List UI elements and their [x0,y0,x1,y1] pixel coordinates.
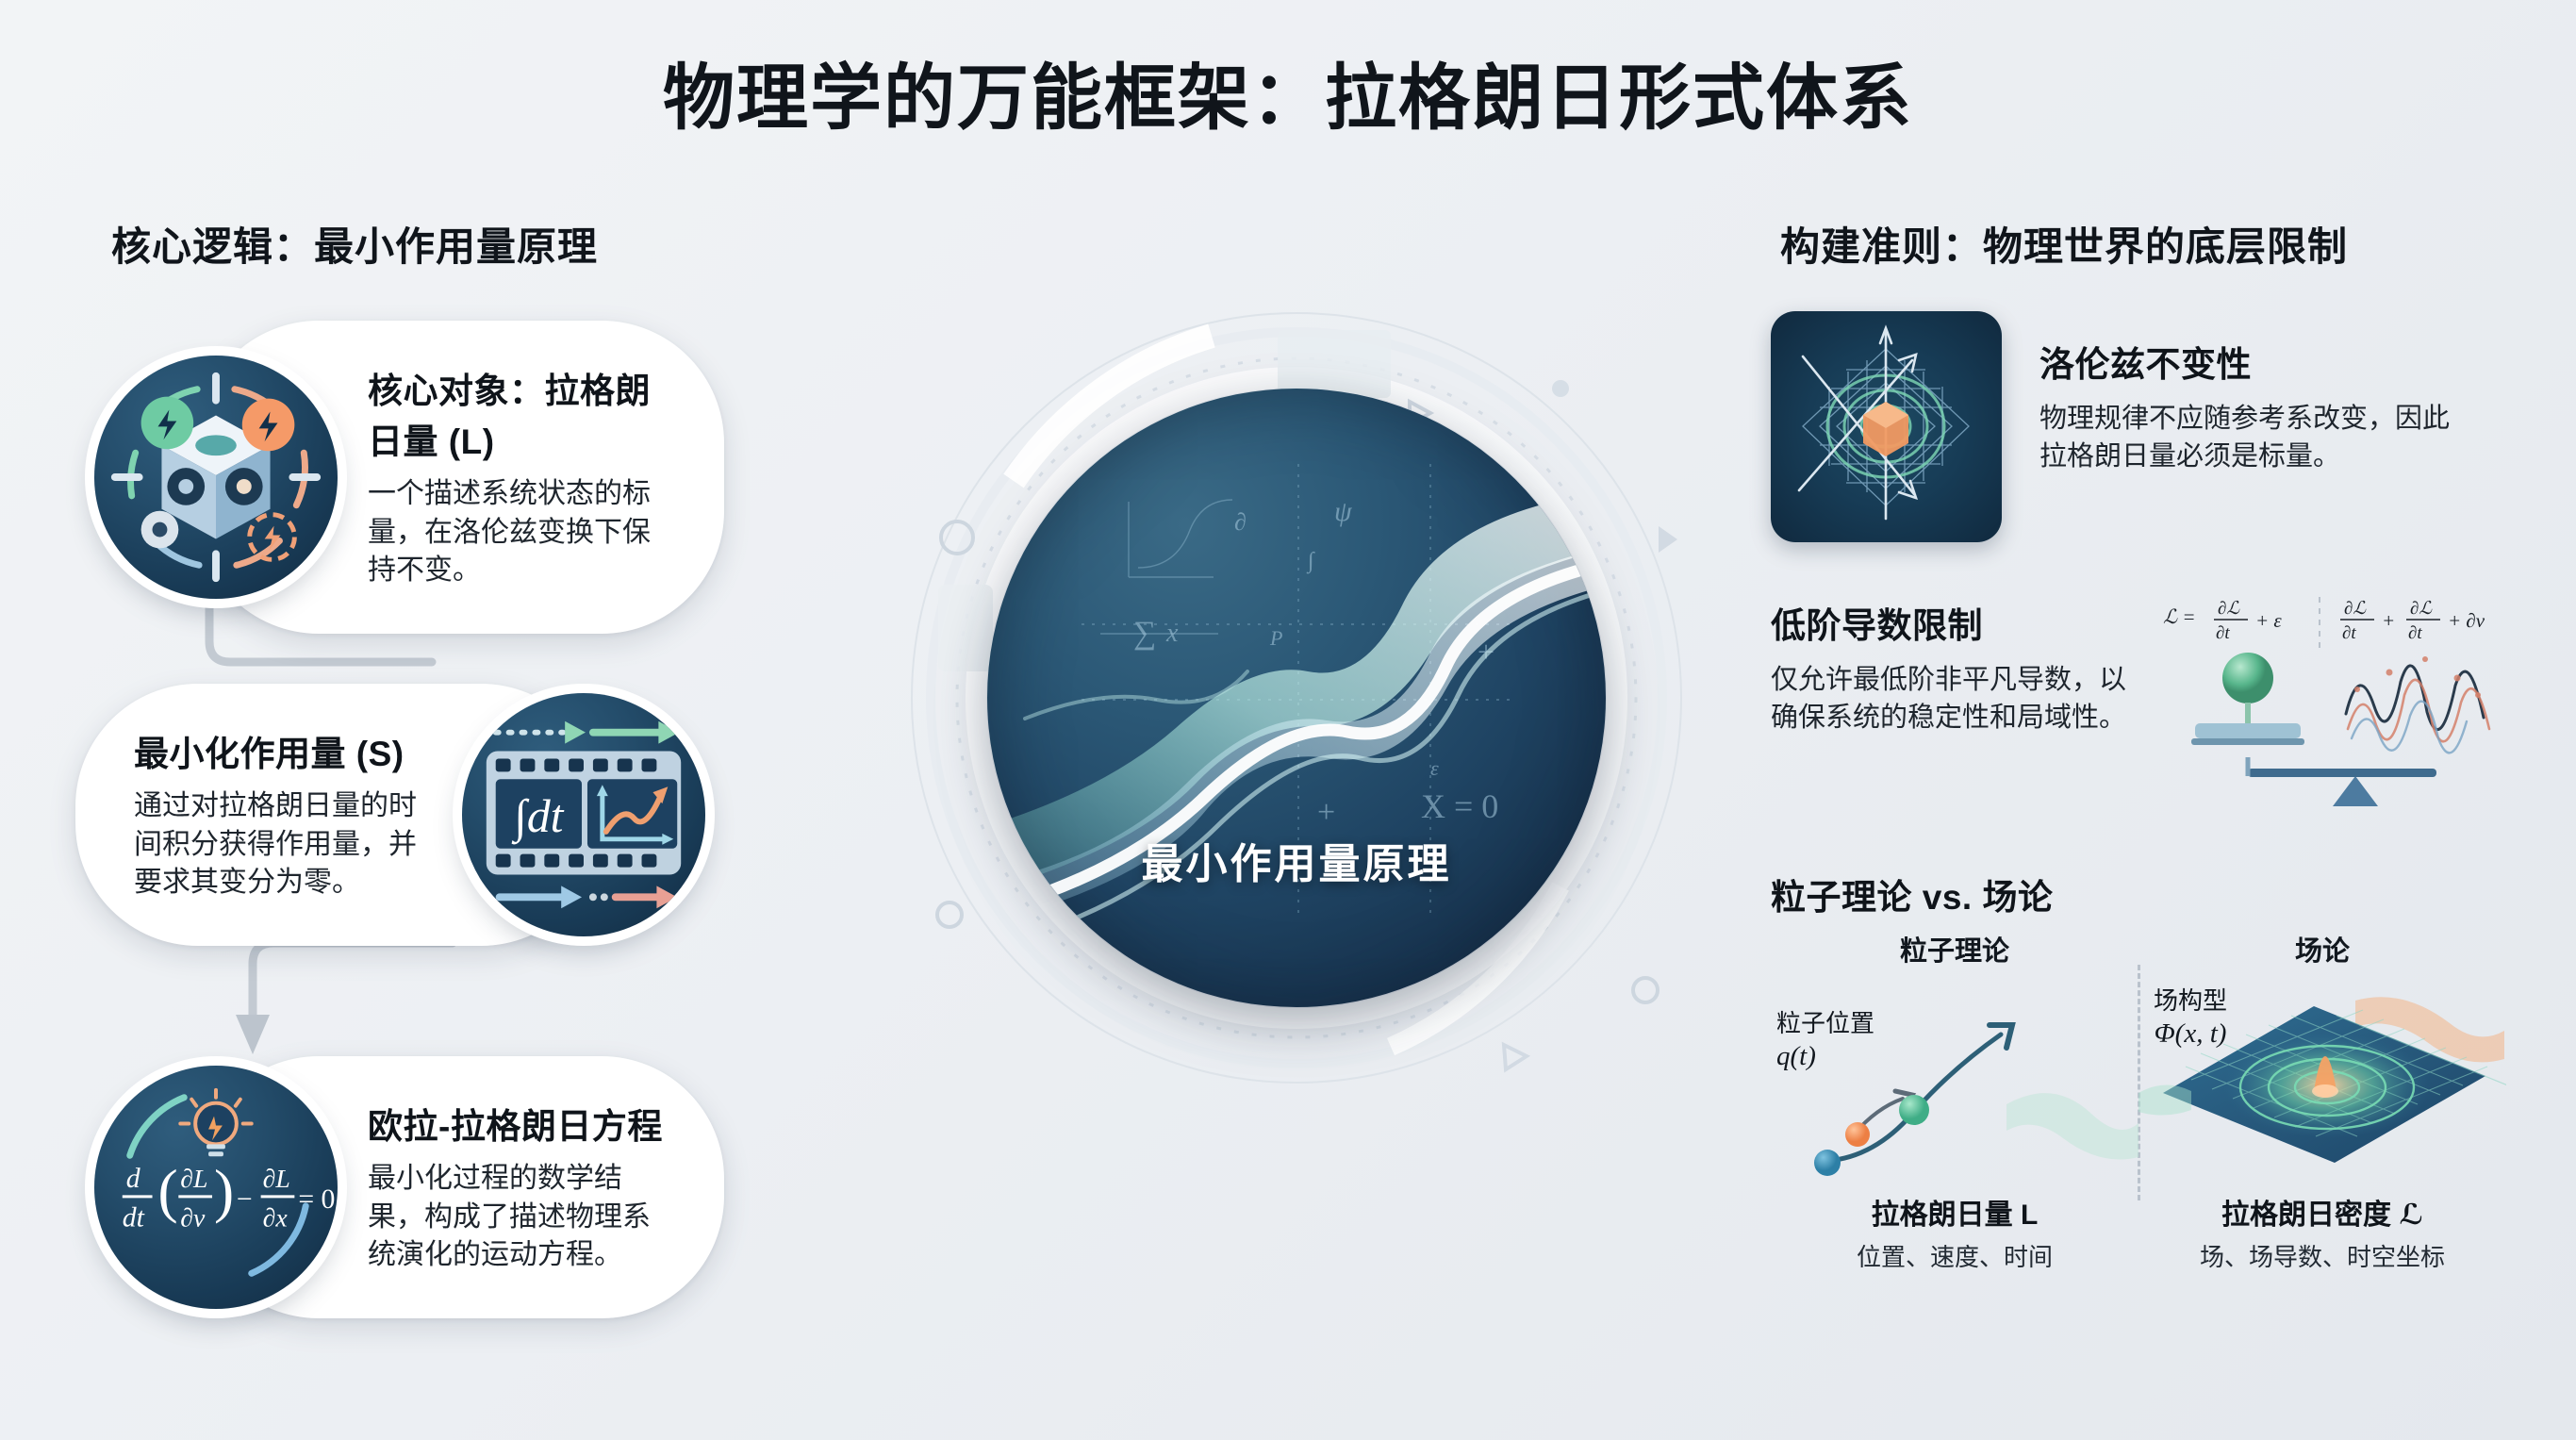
right-block-compare[interactable]: 粒子理论 vs. 场论 粒子理论 粒子位置 q(t) [1771,869,2525,1273]
derivative-text: 低阶导数限制 仅允许最低阶非平凡导数，以确保系统的稳定性和局域性。 [1771,591,2148,827]
flow-card-3-desc: 最小化过程的数学结果，构成了描述物理系统演化的运动方程。 [368,1160,666,1275]
flow-step-1[interactable]: 核心对象：拉格朗日量 (L) 一个描述系统状态的标量，在洛伦兹变换下保持不变。 [94,321,724,634]
flow-card-2-desc: 通过对拉格朗日量的时间积分获得作用量，并要求其变分为零。 [134,787,432,902]
compare-particle-title: 粒子理论 [1771,929,2138,968]
svg-text:d: d [126,1163,140,1194]
svg-text:+ ε: + ε [2255,609,2282,632]
svg-text:∂x: ∂x [263,1203,289,1233]
svg-text:∂ℒ: ∂ℒ [2344,599,2367,619]
left-flow-column: 核心对象：拉格朗日量 (L) 一个描述系统状态的标量，在洛伦兹变换下保持不变。 [75,311,952,1377]
lorentz-desc: 物理规律不应随参考系改变，因此拉格朗日量必须是标量。 [2039,400,2473,475]
svg-text:+: + [1317,795,1335,830]
balance-scale-icon: ℒ = ∂ℒ ∂t + ε ∂ℒ ∂t + ∂ℒ ∂t + ∂v [2157,591,2525,827]
svg-text:∂t: ∂t [2216,623,2230,643]
svg-text:∂t: ∂t [2342,623,2356,643]
svg-text:∂L: ∂L [180,1165,207,1194]
right-block-derivative[interactable]: 低阶导数限制 仅允许最低阶非平凡导数，以确保系统的稳定性和局域性。 ℒ = ∂ℒ… [1771,591,2525,827]
lorentz-title: 洛伦兹不变性 [2039,336,2473,387]
left-section-header: 核心逻辑：最小作用量原理 [111,215,598,273]
svg-text:∫: ∫ [1306,549,1315,574]
derivative-title: 低阶导数限制 [1771,597,2148,648]
center-hero: ∑ x ∂ ψ ∫ P + X = 0 + ε 最小作用量原理 [900,302,1693,1094]
flow-card-1-title: 核心对象：拉格朗日量 (L) [368,362,666,464]
svg-text:∑: ∑ [1133,616,1156,651]
compare-particle-foot-sub: 位置、速度、时间 [1771,1238,2138,1273]
svg-text:): ) [214,1157,234,1224]
center-orb: ∑ x ∂ ψ ∫ P + X = 0 + ε [987,389,1606,1007]
compare-field-title: 场论 [2138,929,2506,968]
svg-text:x: x [1165,619,1179,648]
svg-text:(: ( [157,1157,177,1224]
compare-particle-foot-title: 拉格朗日量 L [1771,1191,2138,1233]
svg-text:= 0: = 0 [298,1183,335,1215]
particle-trajectory-icon: 粒子位置 q(t) [1771,972,2138,1189]
flow-step-2[interactable]: ∫dt 最小化作用量 (S) 通过对拉格朗日量的时间积分获得作用量，并要求其变分… [75,684,705,946]
flow-card-2-title: 最小化作用量 (S) [134,725,432,776]
compare-heading: 粒子理论 vs. 场论 [1771,869,2525,919]
page-title: 物理学的万能框架：拉格朗日形式体系 [0,40,2576,143]
film-integral-icon: ∫dt [462,693,705,936]
compare-column-particle: 粒子理论 粒子位置 q(t) [1771,929,2138,1273]
svg-text:∂ℒ: ∂ℒ [2410,599,2433,619]
euler-lagrange-equation-icon: d dt ( ∂L ∂v ) − ∂L ∂x = 0 [94,1066,338,1309]
flow-card-1-desc: 一个描述系统状态的标量，在洛伦兹变换下保持不变。 [368,475,666,590]
svg-text:∂: ∂ [1234,508,1247,536]
compare-field-foot-sub: 场、场导数、时空坐标 [2138,1238,2506,1273]
spacetime-lattice-icon [1771,311,2002,542]
derivative-desc: 仅允许最低阶非平凡导数，以确保系统的稳定性和局域性。 [1771,661,2148,737]
cube-gears-energy-icon [94,356,338,599]
svg-text:P: P [1269,626,1282,650]
svg-text:+ ∂v: + ∂v [2448,609,2485,632]
svg-text:∫dt: ∫dt [511,790,564,845]
compare-grid: 粒子理论 粒子位置 q(t) [1771,929,2525,1273]
svg-text:∂v: ∂v [180,1203,206,1233]
svg-text:∂t: ∂t [2408,623,2422,643]
svg-text:∂L: ∂L [263,1165,290,1194]
svg-text:ε: ε [1430,756,1439,780]
flow-card-3-title: 欧拉-拉格朗日方程 [368,1098,666,1149]
flow-step-3[interactable]: d dt ( ∂L ∂v ) − ∂L ∂x = 0 欧拉-拉格朗日方程 最小 [94,1056,724,1318]
compare-field-foot-title: 拉格朗日密度 ℒ [2138,1191,2506,1233]
svg-text:ℒ =: ℒ = [2163,605,2196,628]
svg-text:+: + [2382,609,2395,632]
right-section-header: 构建准则：物理世界的底层限制 [1780,215,2348,273]
svg-text:∂ℒ: ∂ℒ [2218,599,2240,619]
svg-text:X = 0: X = 0 [1421,787,1498,825]
svg-text:ψ: ψ [1334,496,1353,527]
svg-text:dt: dt [123,1201,145,1233]
right-block-lorentz[interactable]: 洛伦兹不变性 物理规律不应随参考系改变，因此拉格朗日量必须是标量。 [1771,311,2525,542]
right-column: 洛伦兹不变性 物理规律不应随参考系改变，因此拉格朗日量必须是标量。 低阶导数限制… [1771,311,2525,1273]
compare-column-field: 场论 场构型 Φ(x, t) [2138,929,2506,1273]
field-surface-icon: 场构型 Φ(x, t) [2138,972,2506,1189]
svg-text:−: − [237,1183,253,1215]
center-label: 最小作用量原理 [900,830,1693,890]
lorentz-text: 洛伦兹不变性 物理规律不应随参考系改变，因此拉格朗日量必须是标量。 [2039,311,2473,475]
